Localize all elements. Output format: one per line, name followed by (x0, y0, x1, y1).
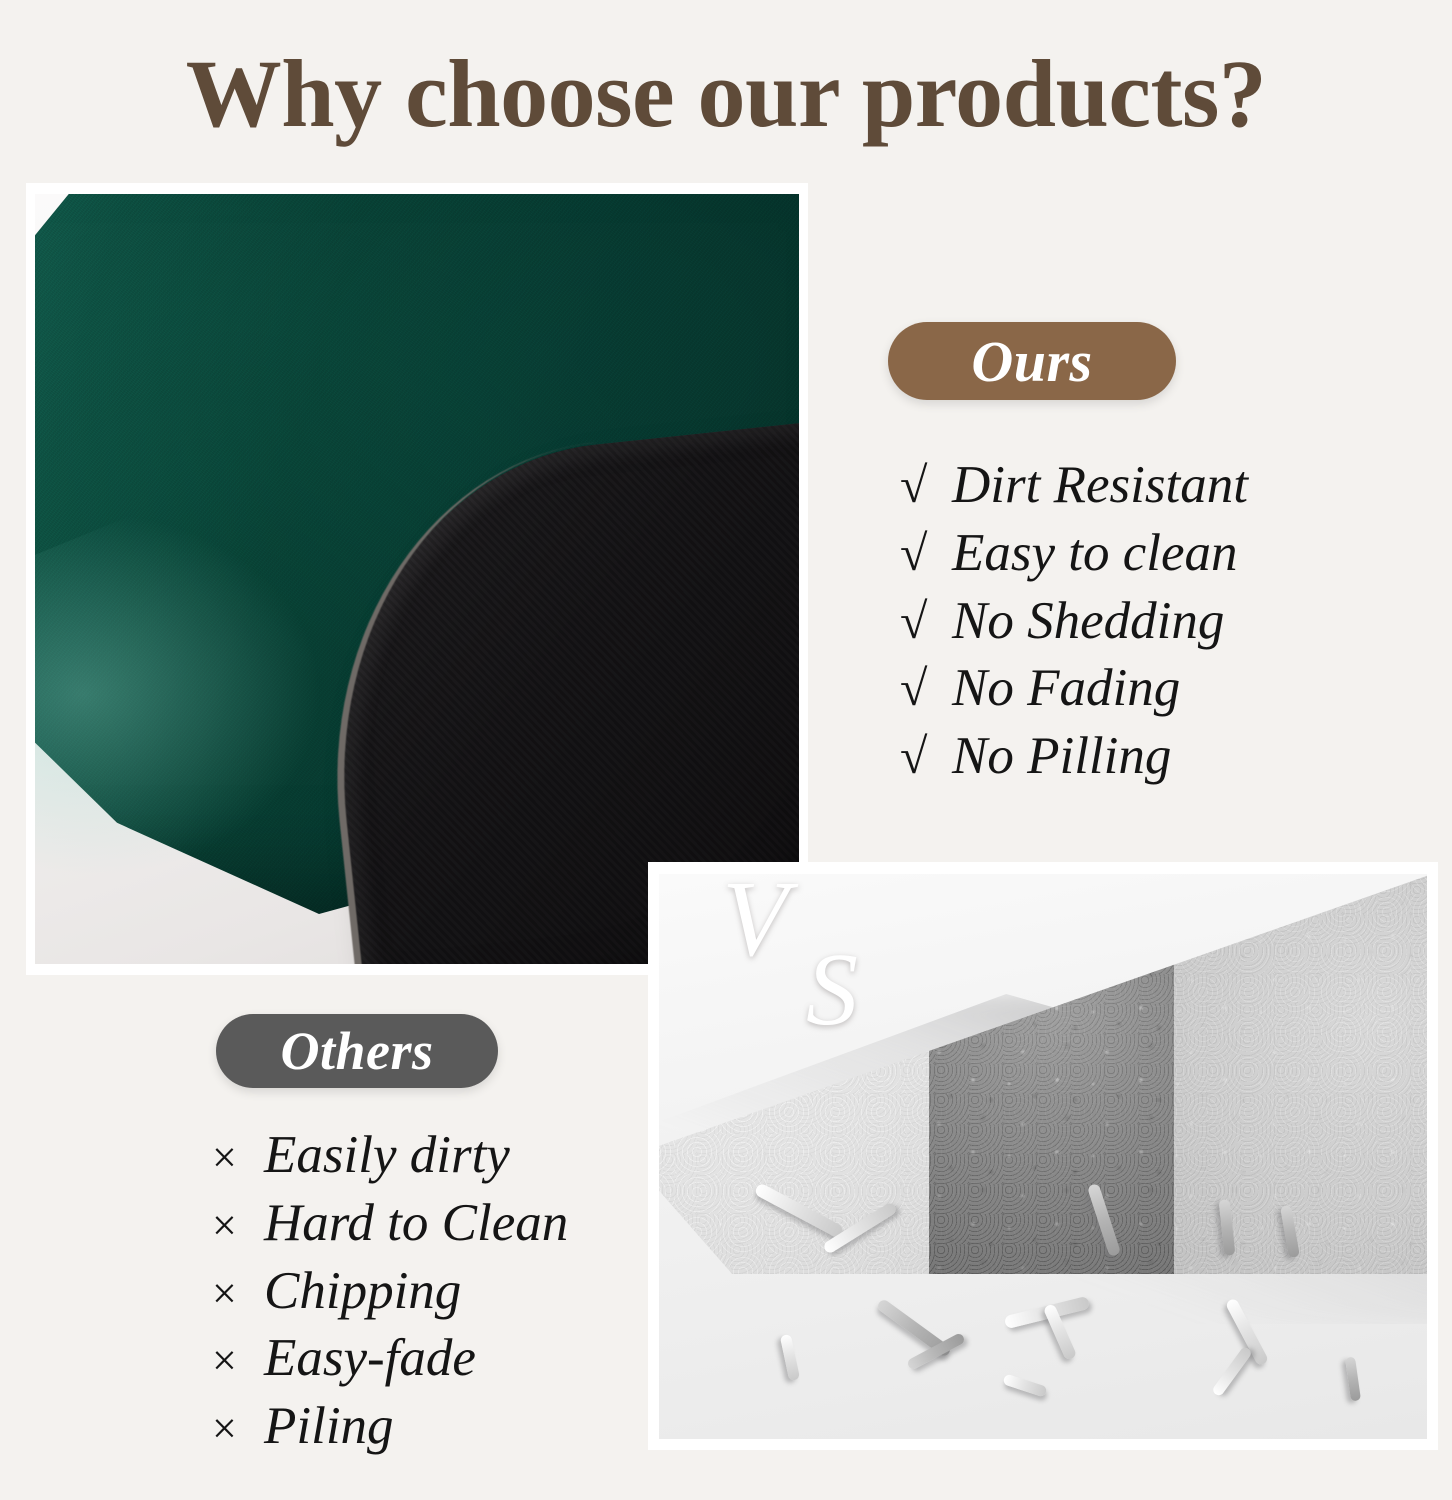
check-icon: √ (900, 589, 952, 653)
cross-icon: × (212, 1198, 264, 1254)
list-item: √ No Shedding (900, 588, 1248, 656)
ours-photo-frame (26, 183, 808, 975)
feature-label: Easy to clean (952, 520, 1238, 588)
list-item: √ No Fading (900, 655, 1248, 723)
list-item: √ Dirt Resistant (900, 452, 1248, 520)
check-icon: √ (900, 521, 952, 585)
feature-label: No Pilling (952, 723, 1171, 791)
list-item: × Easily dirty (212, 1122, 568, 1190)
feature-label: No Shedding (952, 588, 1224, 656)
check-icon: √ (900, 724, 952, 788)
cross-icon: × (212, 1130, 264, 1186)
check-icon: √ (900, 453, 952, 517)
list-item: × Easy-fade (212, 1325, 568, 1393)
ours-badge: Ours (888, 322, 1176, 400)
others-badge: Others (216, 1014, 498, 1088)
ours-feature-list: √ Dirt Resistant √ Easy to clean √ No Sh… (900, 452, 1248, 791)
check-icon: √ (900, 656, 952, 720)
ours-product-photo (35, 194, 799, 964)
page-title: Why choose our products? (0, 44, 1452, 145)
cross-icon: × (212, 1401, 264, 1457)
feature-label: Easy-fade (264, 1325, 476, 1393)
feature-label: Hard to Clean (264, 1190, 568, 1258)
list-item: × Hard to Clean (212, 1190, 568, 1258)
list-item: × Piling (212, 1393, 568, 1461)
others-feature-list: × Easily dirty × Hard to Clean × Chippin… (212, 1122, 568, 1461)
cross-icon: × (212, 1266, 264, 1322)
list-item: √ No Pilling (900, 723, 1248, 791)
list-item: × Chipping (212, 1258, 568, 1326)
feature-label: Easily dirty (264, 1122, 510, 1190)
vs-letter-s: S (806, 938, 858, 1042)
feature-label: Dirt Resistant (952, 452, 1248, 520)
feature-label: Piling (264, 1393, 394, 1461)
feature-label: Chipping (264, 1258, 461, 1326)
vs-letter-v: V (722, 866, 788, 974)
list-item: √ Easy to clean (900, 520, 1248, 588)
feature-label: No Fading (952, 655, 1180, 723)
cross-icon: × (212, 1333, 264, 1389)
infographic-page: Why choose our products? (0, 0, 1452, 1500)
